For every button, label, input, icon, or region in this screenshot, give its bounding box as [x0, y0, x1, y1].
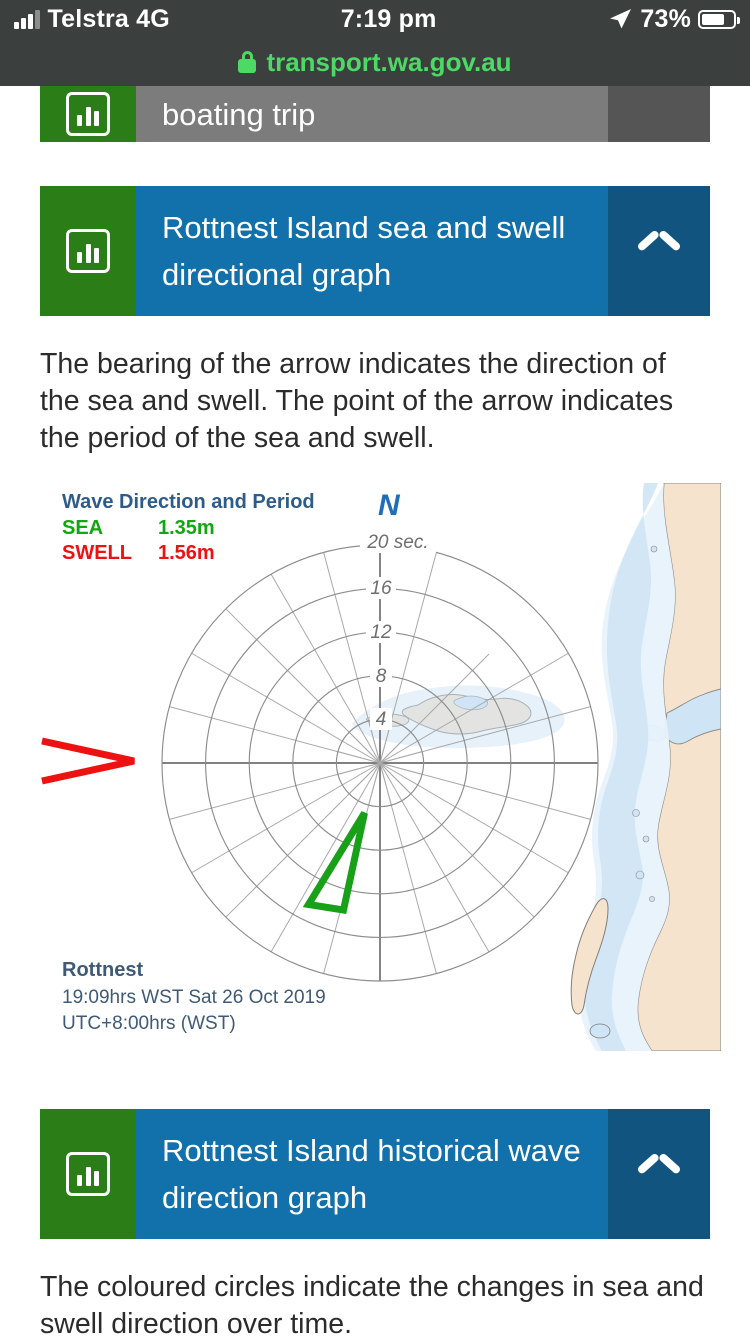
svg-text:16: 16: [370, 578, 392, 599]
legend-value-sea: 1.35m: [158, 516, 215, 541]
accordion-title: boating trip: [162, 91, 315, 138]
accordion-header-historical-wave-direction[interactable]: Rottnest Island historical wave directio…: [40, 1109, 710, 1239]
chart-bars-icon: [66, 92, 110, 136]
carrier-label: Telstra 4G: [48, 5, 170, 34]
browser-url-bar[interactable]: transport.wa.gov.au: [0, 38, 750, 86]
historical-description: The coloured circles indicate the change…: [40, 1269, 710, 1343]
accordion-icon-box: [40, 86, 136, 142]
sea-swell-description: The bearing of the arrow indicates the d…: [40, 346, 710, 457]
legend-table: SEA 1.35m SWELL 1.56m: [62, 516, 215, 566]
legend-value-swell: 1.56m: [158, 541, 215, 566]
status-bar-left: Telstra 4G: [14, 5, 170, 34]
legend-label-swell: SWELL: [62, 541, 158, 566]
accordion-toggle-historical-wave-direction[interactable]: [608, 1109, 710, 1239]
north-label: N: [378, 489, 400, 523]
chevron-up-icon: [639, 1162, 679, 1186]
clock-label: 7:19 pm: [170, 5, 607, 34]
chart-bars-icon: [66, 1152, 110, 1196]
observation-timezone: UTC+8:00hrs (WST): [62, 1011, 326, 1037]
legend-label-sea: SEA: [62, 516, 158, 541]
location-arrow-icon: [607, 7, 633, 31]
observation-timestamp: 19:09hrs WST Sat 26 Oct 2019: [62, 985, 326, 1011]
battery-icon: [698, 10, 736, 29]
lock-icon: [238, 51, 256, 73]
accordion-title-area[interactable]: Rottnest Island sea and swell directiona…: [136, 186, 608, 316]
legend-row-sea: SEA 1.35m: [62, 516, 215, 541]
accordion-icon-box: [40, 186, 136, 316]
accordion-title: Rottnest Island historical wave directio…: [162, 1127, 608, 1221]
accordion-title-area[interactable]: Rottnest Island historical wave directio…: [136, 1109, 608, 1239]
wave-direction-polar-chart: 20 sec. 16 12 8 4: [40, 483, 721, 1051]
chart-legend: Wave Direction and Period SEA 1.35m SWEL…: [62, 491, 315, 566]
svg-text:4: 4: [376, 709, 387, 730]
status-bar-right: 73%: [607, 5, 736, 34]
svg-text:12: 12: [370, 622, 392, 643]
chart-station-stamp: Rottnest 19:09hrs WST Sat 26 Oct 2019 UT…: [62, 959, 326, 1037]
station-name: Rottnest: [62, 959, 326, 982]
accordion-icon-box: [40, 1109, 136, 1239]
accordion-toggle-sea-swell-directional[interactable]: [608, 186, 710, 316]
signal-bars-icon: [14, 10, 40, 29]
chevron-up-icon: [639, 239, 679, 263]
accordion-toggle-boating-trip[interactable]: [608, 86, 710, 142]
chart-title: Wave Direction and Period: [62, 491, 315, 514]
accordion-header-boating-trip[interactable]: boating trip: [40, 86, 710, 142]
ios-status-bar: Telstra 4G 7:19 pm 73%: [0, 0, 750, 38]
accordion-title: Rottnest Island sea and swell directiona…: [162, 204, 608, 298]
battery-percent-label: 73%: [640, 5, 691, 34]
accordion-header-sea-swell-directional[interactable]: Rottnest Island sea and swell directiona…: [40, 186, 710, 316]
accordion-title-area[interactable]: boating trip: [136, 86, 608, 142]
svg-text:20 sec.: 20 sec.: [366, 532, 428, 553]
url-text: transport.wa.gov.au: [266, 47, 511, 78]
page-content: boating trip Rottnest Island sea and swe…: [0, 86, 750, 1343]
chart-bars-icon: [66, 229, 110, 273]
legend-row-swell: SWELL 1.56m: [62, 541, 215, 566]
svg-text:8: 8: [376, 666, 387, 687]
